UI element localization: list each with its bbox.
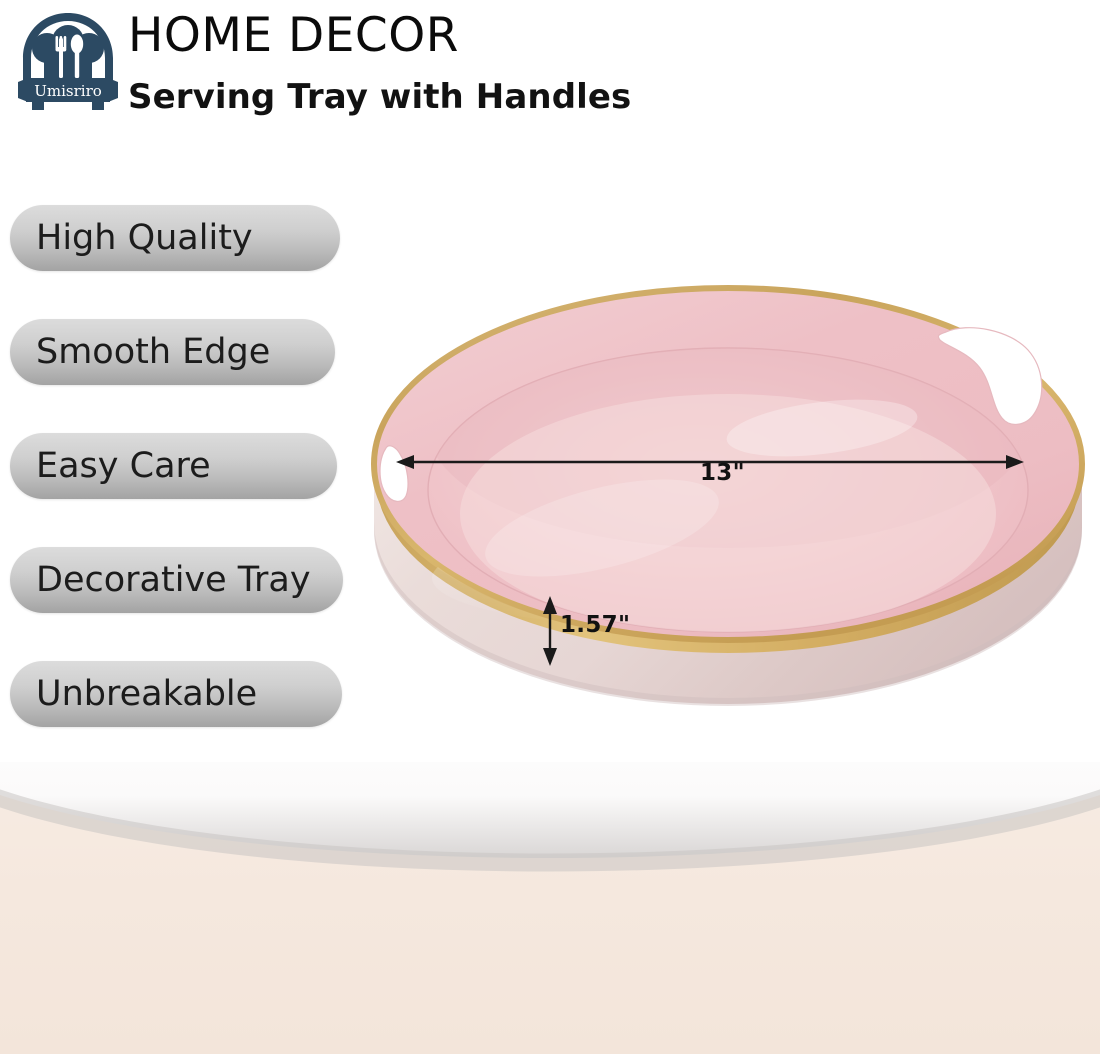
dimension-height-label: 1.57" (560, 612, 630, 638)
bottom-scene (0, 762, 1100, 1054)
feature-list: High Quality Smooth Edge Easy Care Decor… (10, 205, 360, 727)
feature-pill-unbreakable: Unbreakable (10, 661, 342, 727)
feature-pill-easy-care: Easy Care (10, 433, 337, 499)
feature-label: Easy Care (10, 446, 211, 486)
page-subtitle: Serving Tray with Handles (128, 76, 631, 118)
secondary-product-backdrop-icon (0, 762, 1100, 1054)
header: Umisriro HOME DECOR Serving Tray with Ha… (0, 0, 1100, 130)
chef-hat-cutlery-logo-icon: Umisriro (14, 6, 122, 114)
logo-brand-text: Umisriro (34, 82, 102, 100)
feature-label: Decorative Tray (10, 560, 311, 600)
feature-pill-decorative-tray: Decorative Tray (10, 547, 343, 613)
round-tray-with-handles-icon (352, 278, 1100, 720)
feature-pill-high-quality: High Quality (10, 205, 340, 271)
page-title: HOME DECOR (128, 8, 631, 64)
feature-label: High Quality (10, 218, 253, 258)
feature-label: Unbreakable (10, 674, 257, 714)
feature-label: Smooth Edge (10, 332, 270, 372)
product-image (352, 278, 1100, 720)
dimension-width-label: 13" (700, 460, 745, 486)
feature-pill-smooth-edge: Smooth Edge (10, 319, 335, 385)
brand-logo: Umisriro (14, 6, 122, 114)
product-listing-canvas: Umisriro HOME DECOR Serving Tray with Ha… (0, 0, 1100, 1054)
title-block: HOME DECOR Serving Tray with Handles (128, 8, 631, 118)
